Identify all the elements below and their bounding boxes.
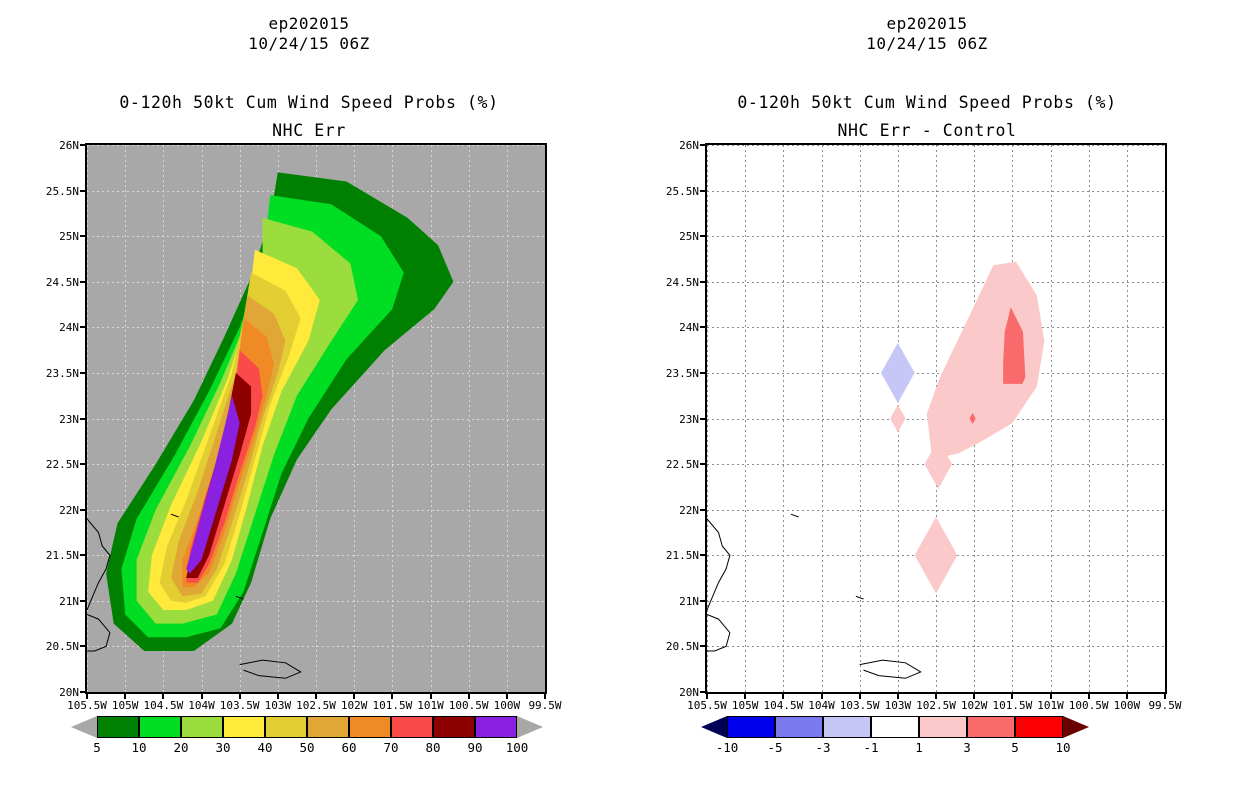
colorbar-under-arrow [71,716,97,738]
y-axis-tick [700,645,706,647]
x-axis-tick [897,693,899,699]
y-axis-tick [80,418,86,420]
x-axis-tick [1126,693,1128,699]
x-axis-tick [744,693,746,699]
colorbar-tick-label: -10 [705,740,749,756]
colorbar-tick-label: 3 [945,740,989,756]
coastline-svg-left [87,145,545,692]
colorbar-tick-label: 70 [369,740,413,756]
x-axis-tick [86,693,88,699]
x-axis-tick [859,693,861,699]
y-axis-tick [80,600,86,602]
colorbar-labels-left: 5102030405060708090100 [97,740,517,756]
colorbar-tick-label: 10 [1041,740,1085,756]
valid-datetime-left: 10/24/15 06Z [0,34,618,54]
y-axis-tick [80,372,86,374]
coastline-path [860,660,921,678]
colorbar-tick-label: 30 [201,740,245,756]
y-axis-tick-label: 25N [653,231,699,242]
x-axis-tick [782,693,784,699]
x-axis-tick-label: 99.5W [515,700,575,711]
y-axis-tick [700,372,706,374]
figure-root: ep202015 10/24/15 06Z 0-120h 50kt Cum Wi… [0,0,1236,800]
y-axis-tick-label: 22.5N [33,459,79,470]
coastline-path [707,519,730,610]
x-axis-tick [821,693,823,699]
colorbar-tick-label: 40 [243,740,287,756]
x-axis-tick [706,693,708,699]
coastline-layer-right [707,145,1165,692]
colorbar-over-arrow [517,716,543,738]
colorbar-tick-label: -5 [753,740,797,756]
colorbar-swatch [967,716,1015,738]
gridline-vertical [545,145,546,692]
y-axis-tick [700,600,706,602]
colorbar-swatch [727,716,775,738]
colorbar-tick-label: 10 [117,740,161,756]
y-axis-tick-label: 20.5N [653,641,699,652]
y-axis-tick-label: 22N [33,505,79,516]
y-axis-tick-label: 23N [33,414,79,425]
y-axis-tick [80,235,86,237]
x-axis-tick [468,693,470,699]
y-axis-tick [80,645,86,647]
coastline-svg-right [707,145,1165,692]
colorbar-tick-label: 1 [897,740,941,756]
coastline-path [171,514,179,517]
x-axis-tick [1164,693,1166,699]
y-axis-tick-label: 23.5N [653,368,699,379]
y-axis-tick-label: 25.5N [653,186,699,197]
panel-subtitle-left: NHC Err [0,120,618,141]
colorbar-tick-label: 5 [75,740,119,756]
y-axis-tick [700,281,706,283]
coastline-path [87,615,110,652]
colorbar-tick-label: 80 [411,740,455,756]
y-axis-tick [700,509,706,511]
colorbar-swatch [265,716,307,738]
x-axis-tick [1050,693,1052,699]
colorbar-tick-label: 20 [159,740,203,756]
x-axis-tick [124,693,126,699]
valid-datetime-right: 10/24/15 06Z [618,34,1236,54]
coastline-layer-left [87,145,545,692]
coastline-path [791,514,799,517]
colorbar-tick-label: 60 [327,740,371,756]
storm-id-left: ep202015 [0,14,618,34]
y-axis-tick-label: 26N [653,140,699,151]
y-axis-tick-label: 20.5N [33,641,79,652]
y-axis-tick-label: 20N [33,687,79,698]
x-axis-tick [239,693,241,699]
x-axis-tick [430,693,432,699]
y-axis-tick [80,326,86,328]
gridline-vertical [1165,145,1166,692]
colorbar-tick-label: 50 [285,740,329,756]
y-axis-tick [700,418,706,420]
y-axis-tick [700,190,706,192]
y-axis-tick-label: 22.5N [653,459,699,470]
y-axis-tick [80,281,86,283]
y-axis-tick [700,326,706,328]
y-axis-tick-label: 21.5N [33,550,79,561]
y-axis-tick-label: 20N [653,687,699,698]
colorbar-labels-right: -10-5-3-113510 [727,740,1063,756]
coastline-path [87,519,110,610]
x-axis-tick [162,693,164,699]
colorbar-tick-label: 5 [993,740,1037,756]
colorbar-swatch [349,716,391,738]
colorbar-right [727,716,1063,738]
y-axis-tick-label: 24.5N [33,277,79,288]
y-axis-tick [700,463,706,465]
panel-title-left: 0-120h 50kt Cum Wind Speed Probs (%) [0,92,618,113]
colorbar-swatch [475,716,517,738]
y-axis-tick [80,509,86,511]
colorbar-swatch [1015,716,1063,738]
colorbar-swatch [97,716,139,738]
x-axis-tick [277,693,279,699]
colorbar-left [97,716,517,738]
panel-nhc-err: ep202015 10/24/15 06Z 0-120h 50kt Cum Wi… [0,0,618,800]
y-axis-tick-label: 21.5N [653,550,699,561]
coastline-path [240,660,301,678]
coastline-path [236,596,244,599]
colorbar-tick-label: 100 [495,740,539,756]
x-axis-tick [1088,693,1090,699]
colorbar-swatch [391,716,433,738]
colorbar-swatch [307,716,349,738]
y-axis-tick [80,463,86,465]
y-axis-tick-label: 24N [653,322,699,333]
x-axis-tick [315,693,317,699]
x-axis-tick [506,693,508,699]
colorbar-swatch [223,716,265,738]
map-plot-area-left [85,143,547,694]
x-axis-tick-label: 99.5W [1135,700,1195,711]
colorbar-swatch [181,716,223,738]
y-axis-tick-label: 26N [33,140,79,151]
y-axis-tick [700,554,706,556]
x-axis-tick [544,693,546,699]
y-axis-tick-label: 23N [653,414,699,425]
y-axis-tick-label: 24N [33,322,79,333]
coastline-path [856,596,864,599]
y-axis-tick-label: 25.5N [33,186,79,197]
colorbar-tick-label: 90 [453,740,497,756]
panel-nhc-err-minus-control: ep202015 10/24/15 06Z 0-120h 50kt Cum Wi… [618,0,1236,800]
y-axis-tick [80,190,86,192]
y-axis-tick-label: 21N [653,596,699,607]
storm-id-right: ep202015 [618,14,1236,34]
colorbar-tick-label: -3 [801,740,845,756]
y-axis-tick-label: 23.5N [33,368,79,379]
colorbar-tick-label: -1 [849,740,893,756]
colorbar-swatch [871,716,919,738]
map-plot-area-right [705,143,1167,694]
x-axis-tick [353,693,355,699]
colorbar-under-arrow [701,716,727,738]
colorbar-swatch [775,716,823,738]
panel-title-right: 0-120h 50kt Cum Wind Speed Probs (%) [618,92,1236,113]
x-axis-tick [935,693,937,699]
y-axis-tick [700,235,706,237]
coastline-path [707,615,730,652]
colorbar-swatch [433,716,475,738]
colorbar-over-arrow [1063,716,1089,738]
y-axis-tick [80,144,86,146]
y-axis-tick-label: 25N [33,231,79,242]
colorbar-swatch [823,716,871,738]
panel-subtitle-right: NHC Err - Control [618,120,1236,141]
y-axis-tick-label: 24.5N [653,277,699,288]
y-axis-tick [80,554,86,556]
y-axis-tick-label: 22N [653,505,699,516]
x-axis-tick [391,693,393,699]
colorbar-swatch [139,716,181,738]
x-axis-tick [973,693,975,699]
y-axis-tick-label: 21N [33,596,79,607]
y-axis-tick [700,144,706,146]
x-axis-tick [201,693,203,699]
colorbar-swatch [919,716,967,738]
x-axis-tick [1011,693,1013,699]
